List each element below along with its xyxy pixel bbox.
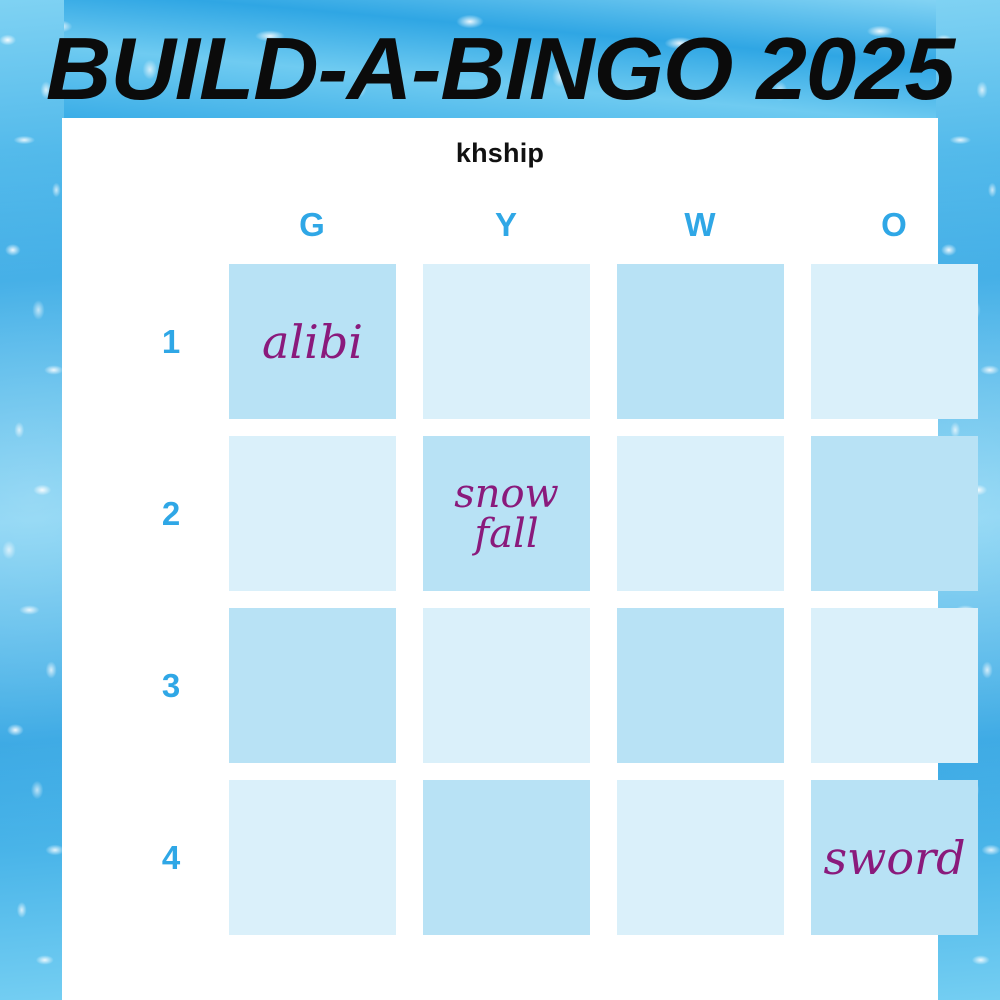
- bingo-cell-w2[interactable]: [617, 436, 784, 591]
- bingo-cell-y2[interactable]: snow fall: [423, 436, 590, 591]
- bingo-card-panel: GYWO1alibi2snow fall34sword: [62, 118, 938, 1000]
- bingo-cell-g2[interactable]: [229, 436, 396, 591]
- bingo-cell-o2[interactable]: [811, 436, 978, 591]
- bingo-card-canvas: GYWO1alibi2snow fall34sword BUILD-A-BING…: [0, 0, 1000, 1000]
- row-header-2: 2: [140, 495, 202, 533]
- bingo-cell-o3[interactable]: [811, 608, 978, 763]
- row-header-4: 4: [140, 839, 202, 877]
- bingo-cell-w3[interactable]: [617, 608, 784, 763]
- bingo-cell-g1[interactable]: alibi: [229, 264, 396, 419]
- bingo-cell-o1[interactable]: [811, 264, 978, 419]
- grid-row: 3: [140, 608, 880, 763]
- bingo-cell-text: alibi: [262, 319, 363, 365]
- row-header-3: 3: [140, 667, 202, 705]
- bingo-cell-text: sword: [823, 835, 965, 881]
- grid-row: 2snow fall: [140, 436, 880, 591]
- column-header-g: G: [229, 206, 396, 244]
- bingo-cell-g4[interactable]: [229, 780, 396, 935]
- grid-row: 4sword: [140, 780, 880, 935]
- bingo-cell-y1[interactable]: [423, 264, 590, 419]
- grid-row: 1alibi: [140, 264, 880, 419]
- bingo-cell-g3[interactable]: [229, 608, 396, 763]
- column-header-w: W: [617, 206, 784, 244]
- bingo-cell-o4[interactable]: sword: [811, 780, 978, 935]
- column-header-y: Y: [423, 206, 590, 244]
- bingo-cell-y4[interactable]: [423, 780, 590, 935]
- column-header-o: O: [811, 206, 978, 244]
- bingo-cell-y3[interactable]: [423, 608, 590, 763]
- bingo-cell-w4[interactable]: [617, 780, 784, 935]
- bingo-grid: GYWO1alibi2snow fall34sword: [140, 203, 880, 935]
- grid-header-row: GYWO: [140, 203, 880, 247]
- bingo-cell-w1[interactable]: [617, 264, 784, 419]
- bingo-cell-text: snow fall: [429, 474, 584, 554]
- page-subtitle: khship: [0, 138, 1000, 169]
- row-header-1: 1: [140, 323, 202, 361]
- page-title: BUILD-A-BINGO 2025: [0, 26, 1000, 112]
